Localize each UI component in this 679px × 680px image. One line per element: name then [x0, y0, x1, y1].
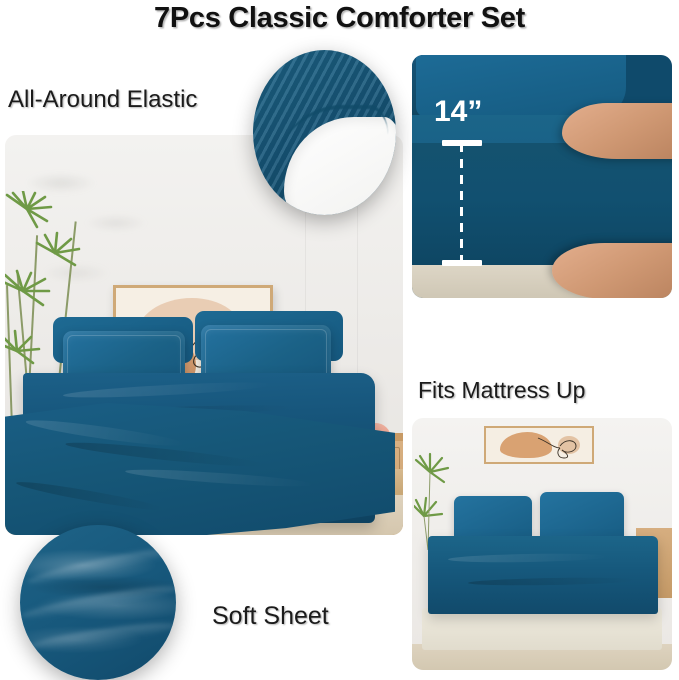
hand-tucking-bottom	[552, 243, 672, 298]
page-title: 7Pcs Classic Comforter Set	[0, 2, 679, 35]
caption-fits-line1: Fits Mattress Up	[418, 375, 585, 405]
elastic-circle-inset	[253, 50, 396, 215]
depth-dimension-label: 14”	[434, 95, 482, 129]
dimension-dashed-line	[460, 143, 463, 263]
dimension-cap-bottom	[442, 260, 482, 266]
hand-tucking-top	[562, 103, 672, 159]
art-line-drawing	[536, 432, 584, 460]
fitted-sheet-photo	[412, 418, 672, 670]
fitted-sheet-on-mattress	[428, 536, 658, 614]
fitted-bed-base	[422, 608, 662, 650]
caption-all-around-elastic: All-Around Elastic	[8, 86, 197, 114]
product-infographic: 7Pcs Classic Comforter Set All-Around El…	[0, 0, 679, 680]
mattress-depth-photo: 14”	[412, 55, 672, 298]
soft-sheet-circle-inset	[20, 525, 176, 680]
fitted-wall-art	[484, 426, 594, 464]
depth-dimension-indicator	[460, 143, 462, 263]
caption-soft-sheet: Soft Sheet	[212, 602, 329, 631]
